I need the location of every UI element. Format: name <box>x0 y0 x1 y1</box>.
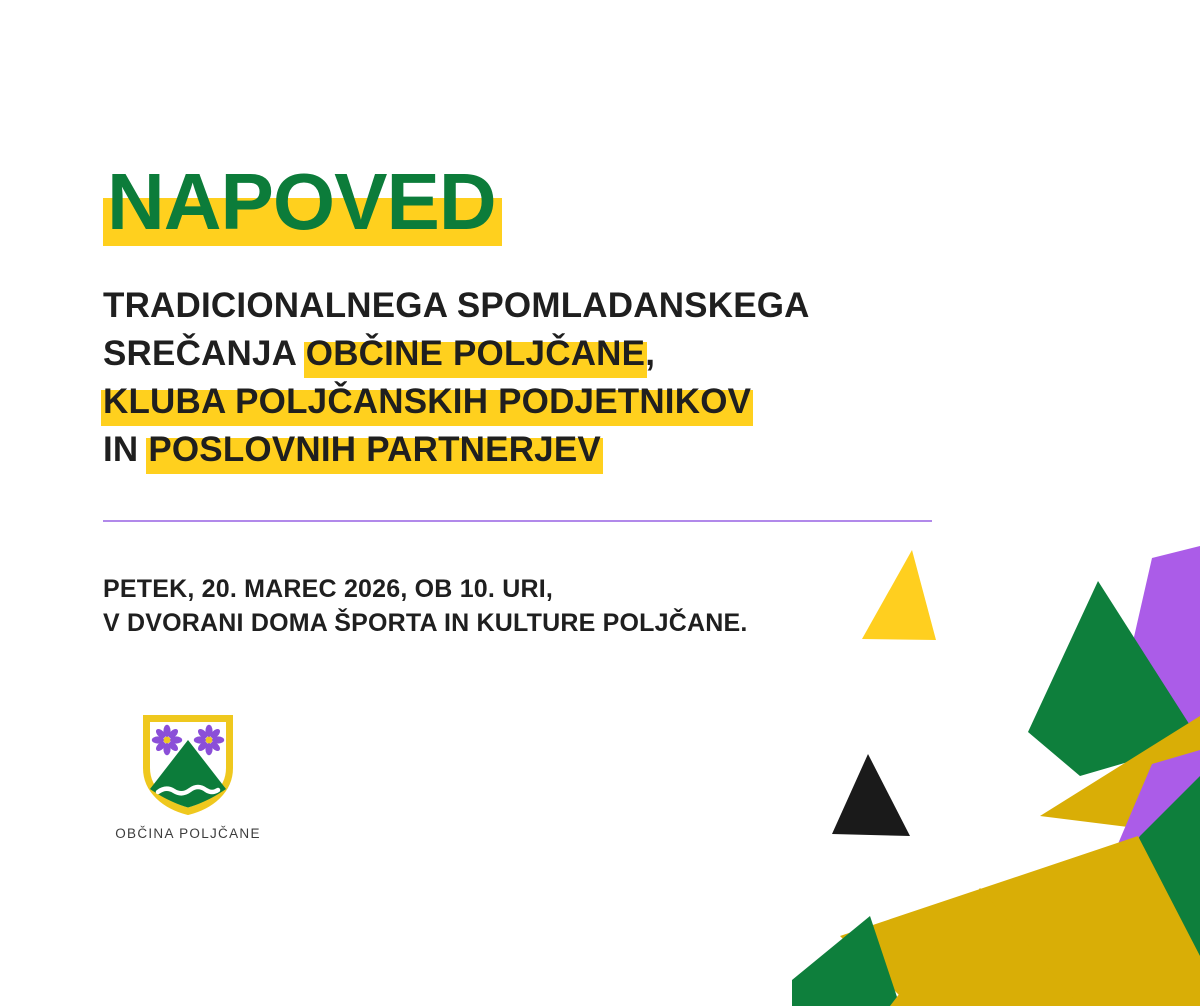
purple-wedge-lower <box>1112 750 1200 866</box>
subtitle-plain-text: IN <box>103 430 148 469</box>
event-detail-line: PETEK, 20. MAREC 2026, OB 10. URI, <box>103 572 748 606</box>
subtitle-line: KLUBA POLJČANSKIH PODJETNIKOV <box>103 378 1003 426</box>
subtitle-line: IN POSLOVNIH PARTNERJEV <box>103 426 1003 474</box>
page-title: NAPOVED <box>103 160 502 244</box>
gold-field-lower <box>840 836 1200 1006</box>
gold-triangle-mid <box>1040 716 1200 836</box>
subtitle-highlighted-text: POSLOVNIH PARTNERJEV <box>148 426 601 474</box>
municipality-name-label: OBČINA POLJČANE <box>103 826 273 841</box>
divider-rule <box>103 520 932 522</box>
gold-peak-center <box>890 888 1080 1006</box>
subtitle-plain-text: TRADICIONALNEGA SPOMLADANSKEGA <box>103 286 810 325</box>
subtitle-highlighted-text: OBČINE POLJČANE <box>306 330 645 378</box>
headline-container: NAPOVED <box>103 160 502 244</box>
yellow-triangle-top <box>862 550 936 640</box>
subtitle-highlighted-text: KLUBA POLJČANSKIH PODJETNIKOV <box>103 378 751 426</box>
geometric-triangles-pattern <box>780 536 1200 1006</box>
event-detail-line: V DVORANI DOMA ŠPORTA IN KULTURE POLJČAN… <box>103 606 748 640</box>
green-triangle-large <box>1028 581 1200 776</box>
black-triangle-small <box>832 754 910 836</box>
event-details-block: PETEK, 20. MAREC 2026, OB 10. URI,V DVOR… <box>103 572 748 640</box>
subtitle-block: TRADICIONALNEGA SPOMLADANSKEGASREČANJA O… <box>103 282 1003 474</box>
municipality-logo: OBČINA POLJČANE <box>103 710 273 841</box>
poster-canvas: NAPOVED TRADICIONALNEGA SPOMLADANSKEGASR… <box>0 0 1200 1006</box>
coat-of-arms-shield-icon <box>134 710 242 818</box>
green-peak-left <box>792 916 900 1006</box>
subtitle-line: SREČANJA OBČINE POLJČANE, <box>103 330 1003 378</box>
subtitle-plain-text: SREČANJA <box>103 334 306 373</box>
subtitle-line: TRADICIONALNEGA SPOMLADANSKEGA <box>103 282 1003 330</box>
purple-wedge-upper <box>1116 546 1200 736</box>
headline-text: NAPOVED <box>107 157 496 246</box>
green-field-right <box>1030 776 1200 1006</box>
